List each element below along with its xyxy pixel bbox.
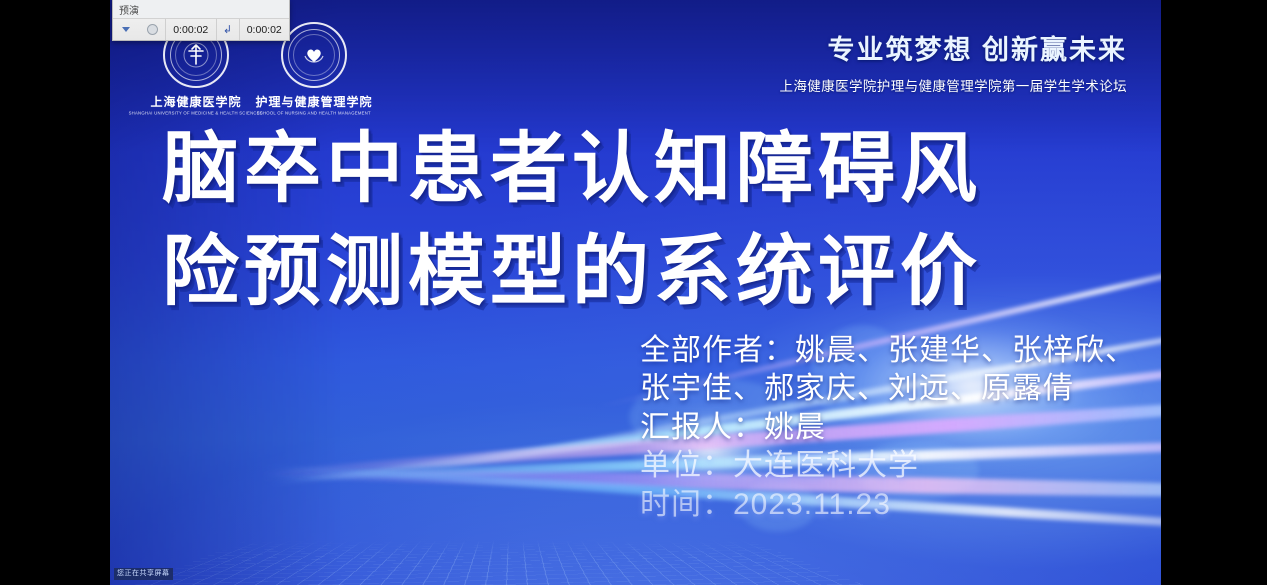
meta-authors-line-2: 张宇佳、郝家庆、刘远、原露倩	[640, 370, 1150, 408]
logo-label-en: SCHOOL OF NURSING AND HEALTH MANAGEMENT	[257, 111, 371, 116]
rehearsal-timer-toolbar[interactable]: 预演 0:00:02 ↲ 0:00:02	[112, 0, 290, 41]
nursing-heart-seal-icon	[281, 22, 347, 88]
chevron-down-icon[interactable]	[113, 19, 139, 40]
slogan-subtitle: 上海健康医学院护理与健康管理学院第一届学生学术论坛	[780, 75, 1128, 95]
meta-affiliation: 单位：大连医科大学	[640, 447, 1150, 485]
slide-meta-block: 全部作者：姚晨、张建华、张梓欣、 张宇佳、郝家庆、刘远、原露倩 汇报人：姚晨 单…	[640, 332, 1150, 524]
chevron-down-glyph	[122, 27, 130, 32]
forum-slogan: 专业筑梦想 创新赢未来 上海健康医学院护理与健康管理学院第一届学生学术论坛	[780, 28, 1128, 95]
meta-date: 时间：2023.11.23	[640, 486, 1150, 524]
title-line-2: 险预测模型的系统评价	[162, 221, 1092, 324]
screen-share-viewport: 上海健康医学院 SHANGHAI UNIVERSITY OF MEDICINE …	[0, 0, 1267, 585]
screen-share-status-badge: 您正在共享屏幕	[114, 568, 173, 580]
toolbar-title: 预演	[113, 0, 289, 19]
total-time-readout: 0:00:02	[239, 19, 290, 40]
meta-authors-line-1: 全部作者：姚晨、张建华、张梓欣、	[640, 332, 1150, 370]
record-dot-glyph	[147, 24, 158, 35]
logo-label-cn: 上海健康医学院	[150, 93, 241, 110]
record-dot-icon[interactable]	[139, 19, 165, 40]
logo-label-en: SHANGHAI UNIVERSITY OF MEDICINE & HEALTH…	[129, 111, 263, 116]
meta-presenter: 汇报人：姚晨	[640, 409, 1150, 447]
loop-arrow-icon[interactable]: ↲	[216, 19, 239, 40]
slogan-main: 专业筑梦想 创新赢未来	[780, 28, 1128, 67]
logo-label-cn: 护理与健康管理学院	[256, 93, 373, 110]
title-line-1: 脑卒中患者认知障碍风	[162, 118, 1092, 221]
elapsed-time-readout: 0:00:02	[165, 19, 216, 40]
slide-title: 脑卒中患者认知障碍风 险预测模型的系统评价	[162, 118, 1092, 324]
toolbar-controls-row: 0:00:02 ↲ 0:00:02	[113, 19, 289, 40]
presentation-slide: 上海健康医学院 SHANGHAI UNIVERSITY OF MEDICINE …	[110, 0, 1161, 585]
